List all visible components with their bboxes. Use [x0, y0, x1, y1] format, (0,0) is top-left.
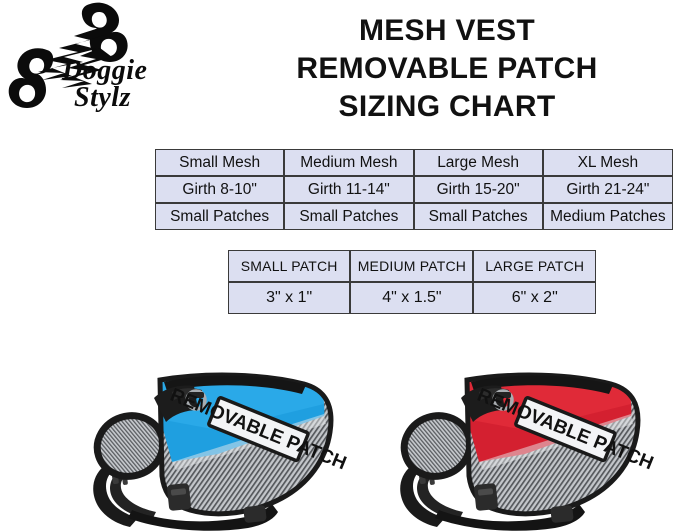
mesh-cell-patch-small: Small Patches: [155, 203, 284, 230]
patch-header-medium: MEDIUM PATCH: [350, 250, 473, 282]
mesh-cell-patch-medium: Small Patches: [284, 203, 413, 230]
brand-wordmark: Doggie Stylz: [62, 57, 202, 129]
title-line-3: SIZING CHART: [215, 88, 679, 126]
patch-dims-small: 3" x 1": [228, 282, 350, 314]
patch-header-small: SMALL PATCH: [228, 250, 350, 282]
title-line-1: MESH VEST: [215, 12, 679, 50]
brand-name-line1: Doggie: [62, 57, 202, 84]
patch-header-large: LARGE PATCH: [473, 250, 596, 282]
mesh-cell-girth-xl: Girth 21-24": [543, 176, 673, 203]
table-row: Girth 8-10" Girth 11-14" Girth 15-20" Gi…: [155, 176, 673, 203]
title-line-2: REMOVABLE PATCH: [215, 50, 679, 88]
table-row: Small Mesh Medium Mesh Large Mesh XL Mes…: [155, 149, 673, 176]
patch-size-table: SMALL PATCH MEDIUM PATCH LARGE PATCH 3" …: [228, 250, 596, 314]
mesh-cell-size-small: Small Mesh: [155, 149, 284, 176]
mesh-cell-girth-small: Girth 8-10": [155, 176, 284, 203]
sizing-chart-page: Doggie Stylz MESH VEST REMOVABLE PATCH S…: [0, 0, 679, 532]
patch-dims-medium: 4" x 1.5": [350, 282, 473, 314]
brand-logo: Doggie Stylz: [4, 2, 204, 132]
mesh-cell-patch-xl: Medium Patches: [543, 203, 673, 230]
mesh-cell-girth-large: Girth 15-20": [414, 176, 543, 203]
brand-name-line2: Stylz: [74, 84, 202, 111]
table-row: Small Patches Small Patches Small Patche…: [155, 203, 673, 230]
mesh-cell-size-medium: Medium Mesh: [284, 149, 413, 176]
table-row: 3" x 1" 4" x 1.5" 6" x 2": [228, 282, 596, 314]
mesh-cell-size-xl: XL Mesh: [543, 149, 673, 176]
mesh-cell-girth-medium: Girth 11-14": [284, 176, 413, 203]
product-photo-blue-harness: REMOVABLE PATCH: [68, 358, 368, 532]
mesh-size-table: Small Mesh Medium Mesh Large Mesh XL Mes…: [155, 149, 673, 230]
patch-dims-large: 6" x 2": [473, 282, 596, 314]
mesh-cell-size-large: Large Mesh: [414, 149, 543, 176]
mesh-cell-patch-large: Small Patches: [414, 203, 543, 230]
page-title: MESH VEST REMOVABLE PATCH SIZING CHART: [215, 12, 679, 126]
table-row: SMALL PATCH MEDIUM PATCH LARGE PATCH: [228, 250, 596, 282]
product-photo-red-harness: REMOVABLE PATCH: [375, 358, 675, 532]
